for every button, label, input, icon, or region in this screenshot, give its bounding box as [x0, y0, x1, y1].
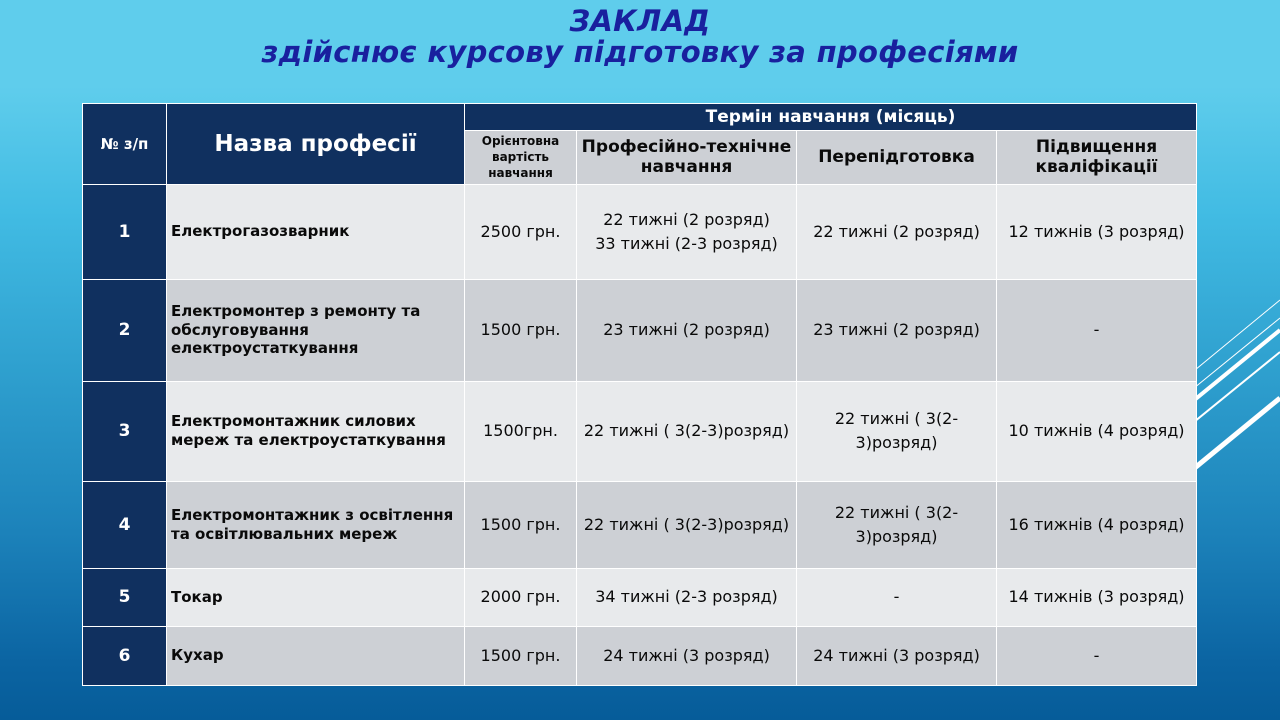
- header-vocational: Професійно-технічне навчання: [577, 131, 797, 185]
- row-vocational: 24 тижні (3 розряд): [577, 626, 797, 685]
- table-row: 3 Електромонтажник силових мереж та елек…: [83, 381, 1197, 481]
- professions-table: № з/п Назва професії Термін навчання (мі…: [82, 103, 1197, 686]
- row-number: 3: [83, 381, 167, 481]
- row-cost: 2500 грн.: [465, 184, 577, 279]
- vocational-line: 33 тижні (2-3 розряд): [581, 232, 792, 256]
- title-line-1: ЗАКЛАД: [0, 6, 1280, 37]
- row-cost: 2000 грн.: [465, 568, 577, 626]
- row-retraining: 23 тижні (2 розряд): [797, 279, 997, 381]
- row-profession: Токар: [167, 568, 465, 626]
- row-retraining: -: [797, 568, 997, 626]
- page-title: ЗАКЛАД здійснює курсову підготовку за пр…: [0, 6, 1280, 69]
- header-number: № з/п: [83, 104, 167, 185]
- table-row: 2 Електромонтер з ремонту та обслуговува…: [83, 279, 1197, 381]
- row-number: 2: [83, 279, 167, 381]
- row-retraining: 22 тижні ( 3(2-3)розряд): [797, 481, 997, 568]
- row-upgrade: 12 тижнів (3 розряд): [997, 184, 1197, 279]
- row-vocational: 34 тижні (2-3 розряд): [577, 568, 797, 626]
- header-upgrade: Підвищення кваліфікації: [997, 131, 1197, 185]
- row-profession: Електромонтер з ремонту та обслуговуванн…: [167, 279, 465, 381]
- header-term-group: Термін навчання (місяць): [465, 104, 1197, 131]
- row-upgrade: 10 тижнів (4 розряд): [997, 381, 1197, 481]
- table-header: № з/п Назва професії Термін навчання (мі…: [83, 104, 1197, 185]
- row-vocational: 22 тижні ( 3(2-3)розряд): [577, 481, 797, 568]
- row-vocational: 22 тижні (2 розряд) 33 тижні (2-3 розряд…: [577, 184, 797, 279]
- table-row: 5 Токар 2000 грн. 34 тижні (2-3 розряд) …: [83, 568, 1197, 626]
- row-vocational: 23 тижні (2 розряд): [577, 279, 797, 381]
- row-vocational: 22 тижні ( 3(2-3)розряд): [577, 381, 797, 481]
- header-row-group: № з/п Назва професії Термін навчання (мі…: [83, 104, 1197, 131]
- vocational-line: 22 тижні (2 розряд): [581, 208, 792, 232]
- row-profession: Електромонтажник з освітлення та освітлю…: [167, 481, 465, 568]
- row-cost: 1500 грн.: [465, 481, 577, 568]
- header-profession: Назва професії: [167, 104, 465, 185]
- table-body: 1 Електрогазозварник 2500 грн. 22 тижні …: [83, 184, 1197, 685]
- table-row: 4 Електромонтажник з освітлення та освіт…: [83, 481, 1197, 568]
- row-number: 4: [83, 481, 167, 568]
- row-profession: Електромонтажник силових мереж та електр…: [167, 381, 465, 481]
- row-number: 6: [83, 626, 167, 685]
- header-retraining: Перепідготовка: [797, 131, 997, 185]
- row-number: 5: [83, 568, 167, 626]
- row-retraining: 22 тижні ( 3(2-3)розряд): [797, 381, 997, 481]
- row-profession: Електрогазозварник: [167, 184, 465, 279]
- row-cost: 1500 грн.: [465, 626, 577, 685]
- row-cost: 1500 грн.: [465, 279, 577, 381]
- row-number: 1: [83, 184, 167, 279]
- row-retraining: 22 тижні (2 розряд): [797, 184, 997, 279]
- header-cost: Орієнтовна вартість навчання: [465, 131, 577, 185]
- row-upgrade: -: [997, 626, 1197, 685]
- row-upgrade: 14 тижнів (3 розряд): [997, 568, 1197, 626]
- row-cost: 1500грн.: [465, 381, 577, 481]
- table-row: 6 Кухар 1500 грн. 24 тижні (3 розряд) 24…: [83, 626, 1197, 685]
- row-retraining: 24 тижні (3 розряд): [797, 626, 997, 685]
- table-row: 1 Електрогазозварник 2500 грн. 22 тижні …: [83, 184, 1197, 279]
- row-upgrade: -: [997, 279, 1197, 381]
- professions-table-container: № з/п Назва професії Термін навчання (мі…: [82, 103, 1196, 686]
- row-upgrade: 16 тижнів (4 розряд): [997, 481, 1197, 568]
- row-profession: Кухар: [167, 626, 465, 685]
- title-line-2: здійснює курсову підготовку за професіям…: [0, 37, 1280, 68]
